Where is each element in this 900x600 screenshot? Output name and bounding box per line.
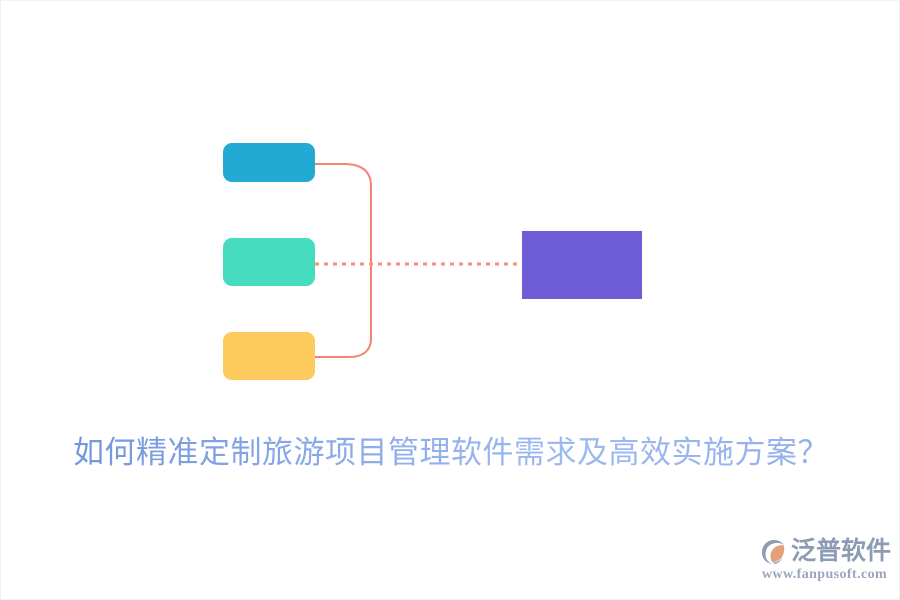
page-canvas: 如何精准定制旅游项目管理软件需求及高效实施方案？ 泛普软件 www.fanpus… bbox=[0, 0, 900, 600]
connector-layer bbox=[1, 1, 900, 421]
brand-url: www.fanpusoft.com bbox=[762, 567, 887, 583]
connector-bracket-top bbox=[315, 164, 371, 201]
watermark: 泛普软件 www.fanpusoft.com bbox=[759, 531, 891, 593]
page-title: 如何精准定制旅游项目管理软件需求及高效实施方案？ bbox=[1, 429, 900, 477]
diagram-area bbox=[1, 1, 900, 421]
diagram-node-purple[interactable] bbox=[522, 231, 642, 299]
diagram-node-blue[interactable] bbox=[223, 143, 315, 182]
diagram-node-yellow[interactable] bbox=[223, 332, 315, 380]
logo-row: 泛普软件 bbox=[759, 535, 891, 569]
fanpu-logo-icon bbox=[759, 537, 789, 567]
brand-name: 泛普软件 bbox=[791, 537, 891, 567]
diagram-node-green[interactable] bbox=[223, 238, 315, 286]
connector-bracket-bottom bbox=[315, 323, 371, 357]
